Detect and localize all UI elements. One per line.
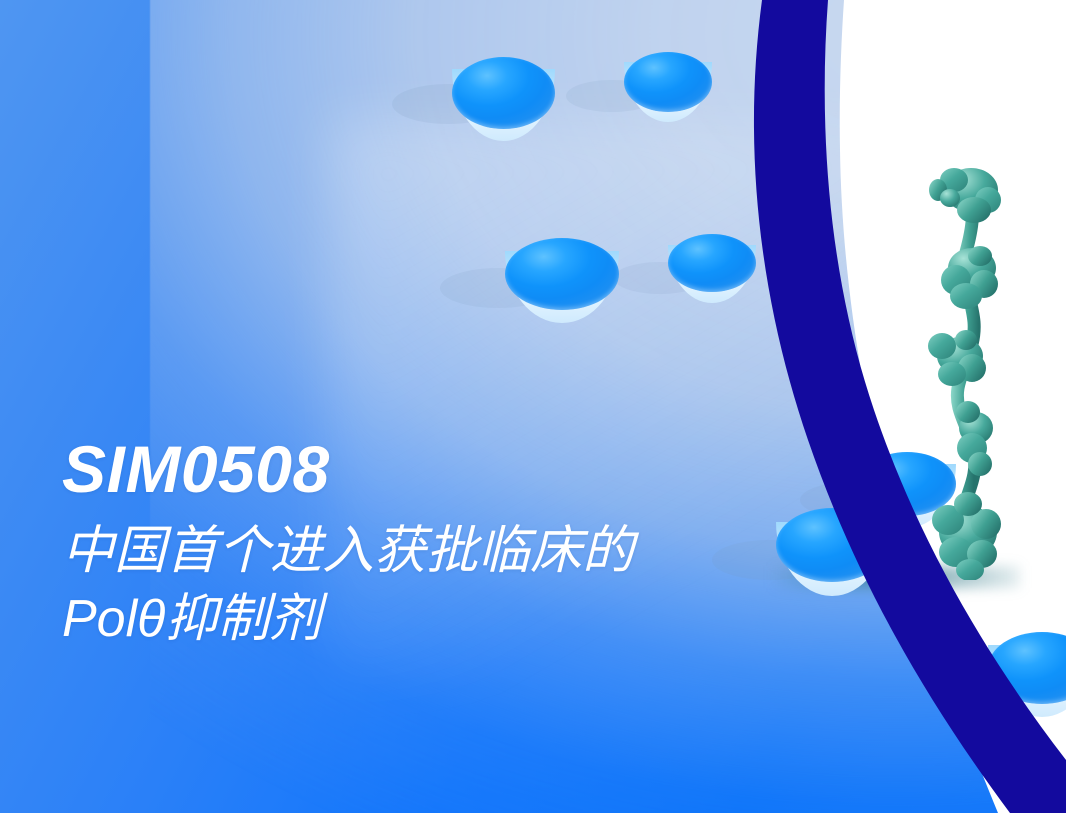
subtitle-line-1: 中国首个进入获批临床的 [62, 518, 634, 586]
molecule-domain-4 [956, 401, 993, 476]
poster-canvas: SIM0508 中国首个进入获批临床的 Polθ抑制剂 [0, 0, 1066, 813]
molecule-domain-1 [929, 168, 1001, 223]
protein-ribbon-model [916, 160, 1036, 580]
page-subtitle: 中国首个进入获批临床的 Polθ抑制剂 [62, 518, 634, 653]
headline-block: SIM0508 中国首个进入获批临床的 Polθ抑制剂 [62, 436, 634, 653]
navy-arc-band [0, 0, 1066, 813]
molecule-domain-2 [941, 246, 998, 309]
page-title: SIM0508 [62, 436, 634, 502]
molecule-domain-5 [932, 492, 1001, 580]
subtitle-line-2: Polθ抑制剂 [62, 586, 634, 654]
